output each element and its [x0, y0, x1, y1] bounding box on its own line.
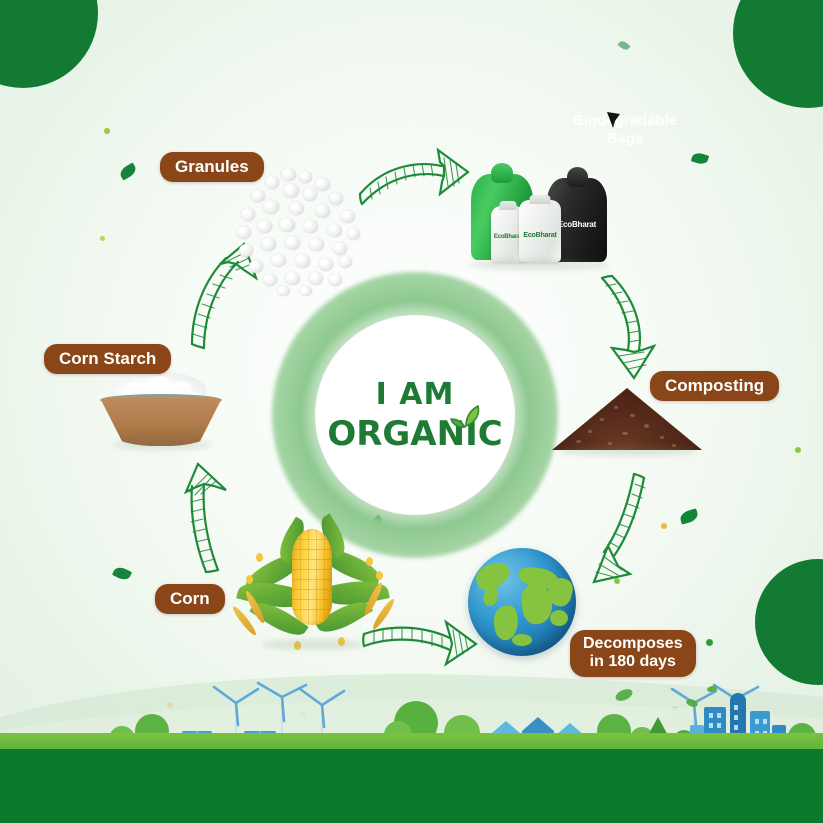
wooden-bowl — [100, 398, 222, 446]
label-bags-line-2: Bags — [545, 130, 705, 148]
product-pack: EcoBharat — [519, 200, 561, 262]
cursor-arrow-icon — [604, 110, 622, 134]
sketch-arrow-icon — [168, 462, 244, 578]
corn-starch-bowl-image — [100, 372, 222, 448]
center-emblem: I AM ORGANIC — [316, 316, 514, 514]
sketch-arrow-icon — [588, 272, 670, 384]
plastic-granules-pile-image — [233, 166, 365, 294]
label-corn[interactable]: Corn — [155, 584, 225, 614]
bowl-shadow — [112, 440, 212, 450]
infographic-canvas: I AM ORGANIC — [0, 0, 823, 823]
decor-dot — [100, 236, 105, 241]
label-bags-line-1: Biodegradable — [545, 112, 705, 130]
label-granules[interactable]: Granules — [160, 152, 264, 182]
ground-band — [0, 749, 823, 823]
decor-dot — [795, 447, 801, 453]
decor-dot — [104, 128, 110, 134]
label-composting[interactable]: Composting — [650, 371, 779, 401]
center-line-1: I AM — [376, 380, 455, 410]
brand-label: EcoBharat — [519, 232, 561, 239]
sketch-arrow-icon — [578, 470, 658, 590]
decor-dot — [661, 523, 667, 529]
label-corn-starch[interactable]: Corn Starch — [44, 344, 171, 374]
biodegradable-bags-image: EcoBharat EcoBharat EcoBharat — [463, 162, 613, 266]
leaf-icon — [112, 565, 132, 582]
leaf-sprout-icon — [449, 402, 483, 428]
label-biodegradable-bags[interactable]: Biodegradable Bags — [545, 112, 705, 148]
corn-cob — [292, 529, 332, 625]
compost-shadow — [558, 446, 696, 456]
bags-shadow — [469, 260, 609, 270]
